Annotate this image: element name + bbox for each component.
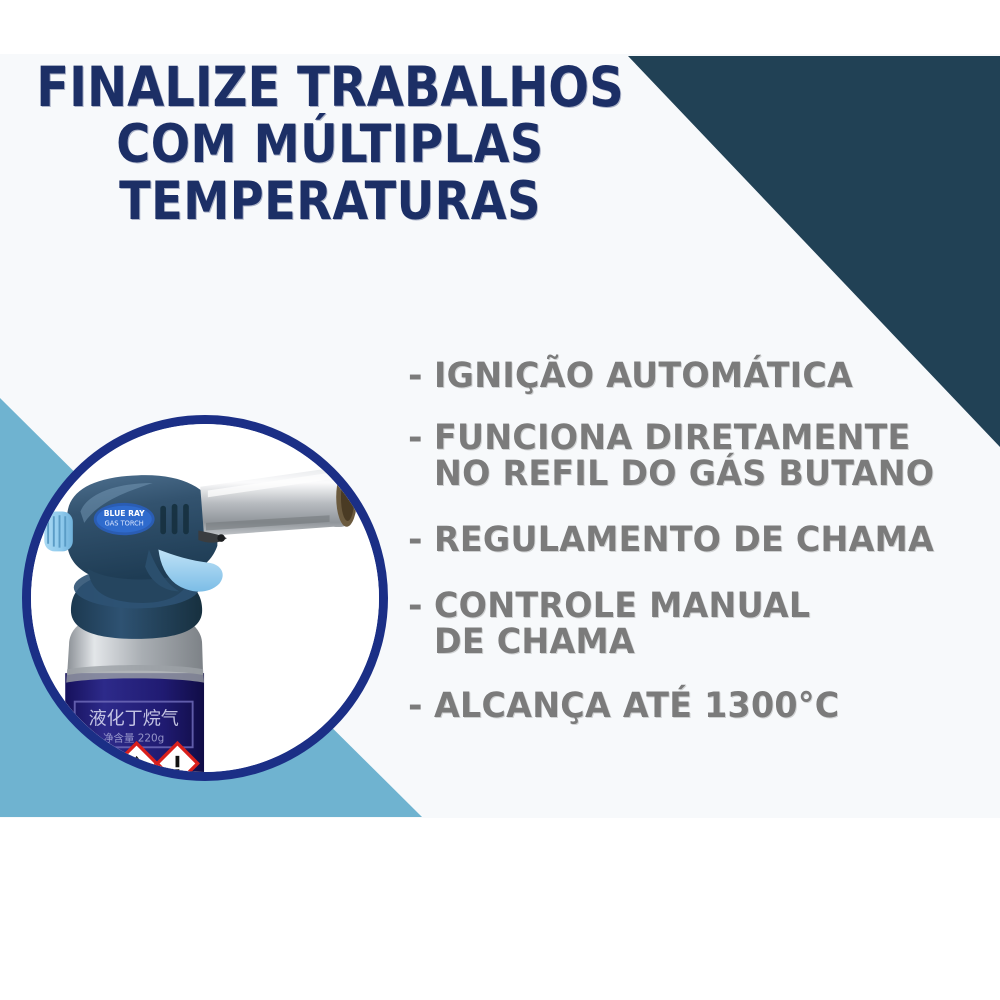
banner-canvas: FINALIZE TRABALHOS COM MÚLTIPLAS TEMPERA…	[0, 0, 1000, 1000]
list-item: - CONTROLE MANUAL DE CHAMA	[408, 588, 998, 660]
feature-label-regulamento-de-chama: REGULAMENTO DE CHAMA	[434, 522, 934, 558]
list-item: - FUNCIONA DIRETAMENTE NO REFIL DO GÁS B…	[408, 420, 998, 492]
svg-text:液化丁烷气: 液化丁烷气	[89, 708, 179, 729]
list-item: - ALCANÇA ATÉ 1300°C	[408, 688, 998, 724]
butane-torch-illustration: 液化丁烷气 净含量 220g	[31, 424, 379, 772]
headline-line-3: TEMPERATURAS	[10, 174, 650, 231]
headline-line-2: COM MÚLTIPLAS	[10, 117, 650, 174]
svg-text:GAS TORCH: GAS TORCH	[105, 520, 144, 528]
feature-label-funciona-diretamente-refil: FUNCIONA DIRETAMENTE NO REFIL DO GÁS BUT…	[434, 420, 934, 492]
feature-label-ignicao-automatica: IGNIÇÃO AUTOMÁTICA	[434, 358, 853, 394]
vent-slots	[160, 504, 189, 534]
feature-label-alcanca-ate-1300c: ALCANÇA ATÉ 1300°C	[434, 688, 839, 724]
list-item: - REGULAMENTO DE CHAMA	[408, 522, 998, 558]
svg-text:BLUE RAY: BLUE RAY	[104, 509, 145, 518]
feature-list: - IGNIÇÃO AUTOMÁTICA - FUNCIONA DIRETAME…	[408, 358, 998, 724]
feature-label-controle-manual-de-chama: CONTROLE MANUAL DE CHAMA	[434, 588, 810, 660]
gas-adjust-knob	[44, 511, 73, 551]
list-item: - IGNIÇÃO AUTOMÁTICA	[408, 358, 998, 394]
brand-badge: BLUE RAY GAS TORCH	[94, 503, 155, 535]
svg-text:净含量 220g: 净含量 220g	[103, 732, 164, 745]
bullet-dash-icon: -	[408, 359, 423, 395]
bullet-dash-icon: -	[408, 589, 423, 625]
product-photo-circle: 液化丁烷气 净含量 220g	[22, 415, 388, 781]
bullet-dash-icon: -	[408, 523, 423, 559]
bullet-dash-icon: -	[408, 421, 423, 457]
headline-line-1: FINALIZE TRABALHOS	[10, 58, 650, 117]
page-title: FINALIZE TRABALHOS COM MÚLTIPLAS TEMPERA…	[0, 58, 660, 230]
bullet-dash-icon: -	[408, 689, 423, 725]
